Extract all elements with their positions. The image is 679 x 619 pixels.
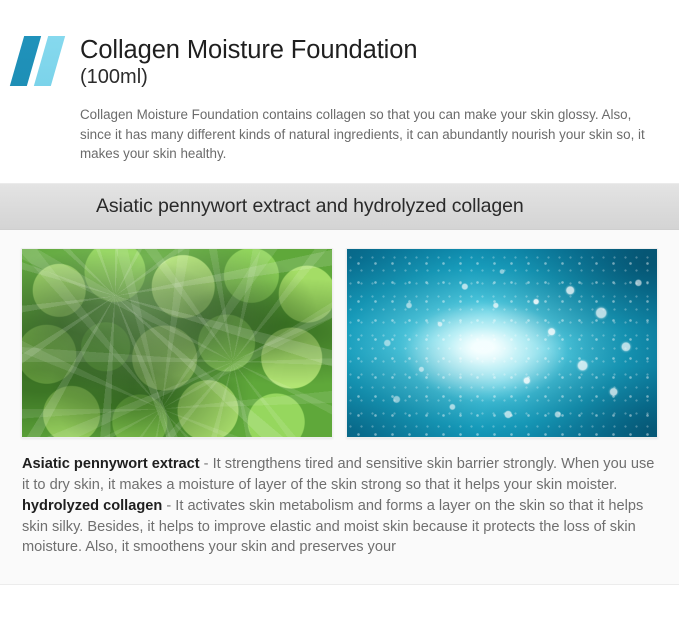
water-bubbles-image <box>346 248 658 438</box>
product-detail-page: Collagen Moisture Foundation (100ml) Col… <box>0 0 679 619</box>
pennywort-image-art <box>22 249 332 437</box>
section-banner: Asiatic pennywort extract and hydrolyzed… <box>0 183 679 230</box>
product-header: Collagen Moisture Foundation (100ml) Col… <box>0 0 679 172</box>
section-banner-title: Asiatic pennywort extract and hydrolyzed… <box>0 197 524 217</box>
water-bubbles-image-art <box>347 249 657 437</box>
product-description: Collagen Moisture Foundation contains co… <box>80 105 665 164</box>
pennywort-highlight-layer <box>22 249 332 437</box>
ingredient-name: hydrolyzed collagen <box>22 498 162 514</box>
page-title: Collagen Moisture Foundation <box>80 36 665 65</box>
ingredient-item: Asiatic pennywort extract - It strengthe… <box>22 454 662 495</box>
ingredient-descriptions: Asiatic pennywort extract - It strengthe… <box>22 454 662 558</box>
brand-logo-icon <box>14 36 66 86</box>
ingredient-dash: - <box>162 498 175 514</box>
title-group: Collagen Moisture Foundation (100ml) <box>80 36 665 88</box>
water-glow-layer <box>347 249 657 437</box>
ingredient-image-row <box>0 248 679 444</box>
product-volume: (100ml) <box>80 66 665 88</box>
ingredient-dash: - <box>200 456 213 472</box>
ingredient-item: hydrolyzed collagen - It activates skin … <box>22 496 662 558</box>
ingredient-name: Asiatic pennywort extract <box>22 456 200 472</box>
pennywort-image <box>21 248 333 438</box>
ingredient-panel: Asiatic pennywort extract - It strengthe… <box>0 230 679 585</box>
